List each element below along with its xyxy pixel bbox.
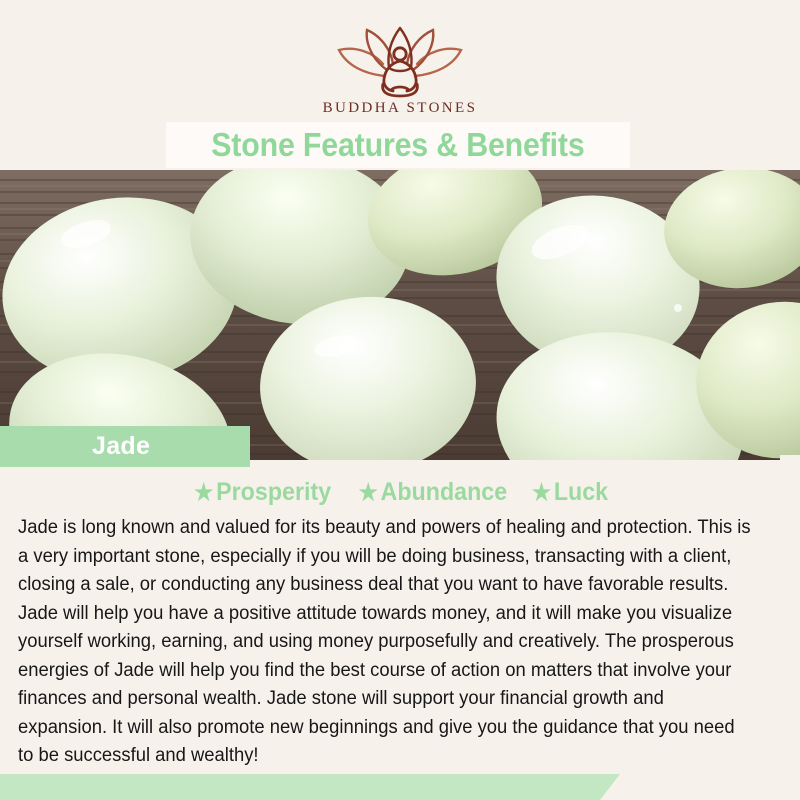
decor-right-cream-fill bbox=[780, 455, 800, 755]
benefit-item-prosperity: ★Prosperity bbox=[194, 478, 331, 507]
benefit-item-luck: ★Luck bbox=[532, 478, 608, 507]
star-icon: ★ bbox=[194, 479, 213, 505]
star-icon: ★ bbox=[358, 479, 377, 505]
star-icon: ★ bbox=[532, 479, 551, 505]
stone-description: Jade is long known and valued for its be… bbox=[18, 514, 751, 771]
decor-bottom-green-band bbox=[0, 774, 620, 800]
page-title: Stone Features & Benefits bbox=[211, 126, 584, 164]
benefit-label: Abundance bbox=[380, 478, 507, 506]
benefits-list: ★Prosperity ★Abundance ★Luck bbox=[0, 478, 800, 507]
brand-name: BUDDHA STONES bbox=[0, 100, 800, 117]
stone-name-badge: Jade bbox=[0, 426, 250, 467]
benefit-label: Luck bbox=[554, 478, 608, 506]
lotus-meditation-icon bbox=[325, 20, 475, 98]
jade-stones-photo bbox=[0, 170, 800, 460]
stone-name: Jade bbox=[92, 432, 150, 461]
title-banner: Stone Features & Benefits bbox=[166, 122, 630, 168]
content-section: ★Prosperity ★Abundance ★Luck Jade is lon… bbox=[0, 460, 800, 800]
benefit-item-abundance: ★Abundance bbox=[358, 478, 507, 507]
benefit-label: Prosperity bbox=[216, 478, 331, 506]
stone-info-poster: BUDDHA STONES bbox=[0, 0, 800, 800]
brand-logo: BUDDHA STONES bbox=[0, 20, 800, 117]
photo-illustration bbox=[0, 170, 800, 460]
